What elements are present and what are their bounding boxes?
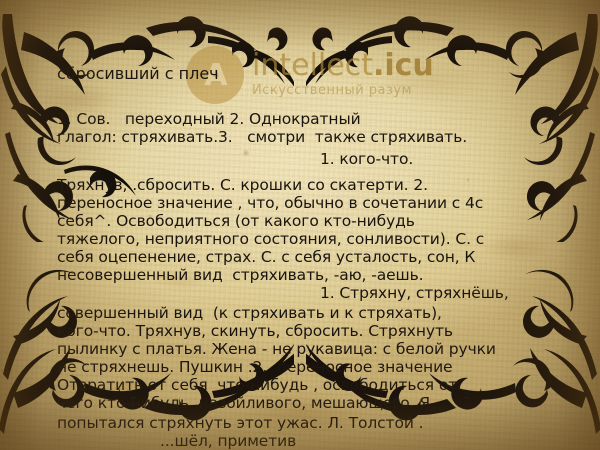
slide-canvas: A intellect.icu Искусственный разум сбро… (0, 0, 600, 450)
parchment-vignette (0, 0, 600, 450)
